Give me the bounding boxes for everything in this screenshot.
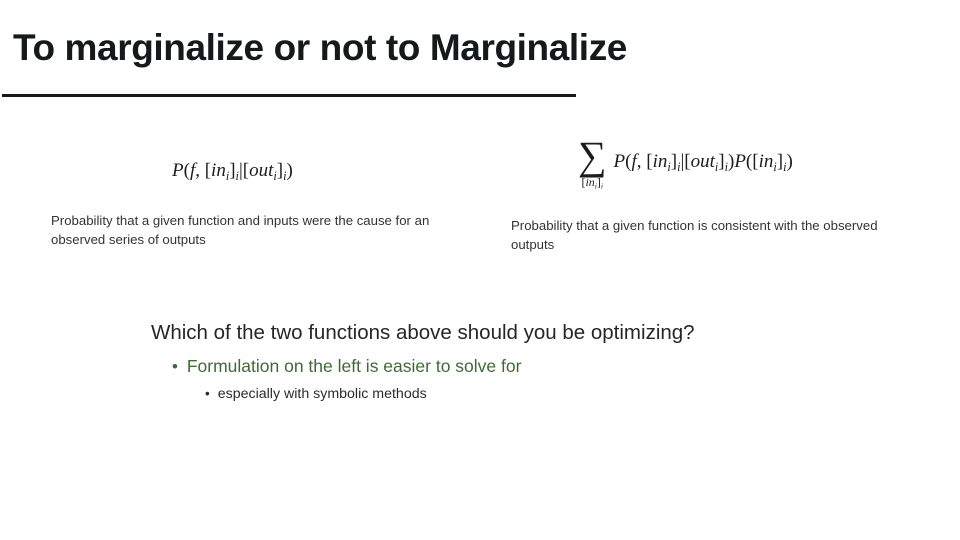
page-title: To marginalize or not to Marginalize bbox=[13, 28, 627, 69]
formula-right-out: out bbox=[691, 151, 715, 172]
summation-operator: ∑ [ini]i bbox=[578, 138, 607, 190]
formula-right-prior-P: P bbox=[734, 151, 746, 172]
bullet-secondary-label: especially with symbolic methods bbox=[218, 386, 427, 402]
formula-right-P: P bbox=[614, 151, 626, 172]
title-divider bbox=[2, 94, 576, 97]
formula-right-prior-in: in bbox=[759, 151, 774, 172]
sub-bullet-dot-icon: • bbox=[205, 387, 210, 400]
sum-idx-base: in bbox=[585, 175, 594, 189]
formula-right-comma: , bbox=[637, 151, 647, 172]
joint-posterior-formula: P(f, [ini]i|[outi]i) bbox=[172, 160, 293, 184]
left-formula-caption: Probability that a given function and in… bbox=[51, 211, 451, 249]
summation-index: [ini]i bbox=[581, 176, 603, 190]
formula-left-P: P bbox=[172, 160, 184, 181]
question-text: Which of the two functions above should … bbox=[151, 321, 695, 345]
formula-left-in: in bbox=[211, 160, 226, 181]
formula-right-in: in bbox=[653, 151, 668, 172]
bullet-dot-icon: • bbox=[172, 359, 178, 376]
right-formula-caption: Probability that a given function is con… bbox=[511, 216, 911, 254]
formula-left-out: out bbox=[249, 160, 273, 181]
bullet-item-secondary: • especially with symbolic methods bbox=[205, 386, 427, 402]
formula-left-close-paren: ) bbox=[286, 160, 292, 181]
bullet-item-primary: • Formulation on the left is easier to s… bbox=[172, 356, 521, 377]
formula-right-prior-close-paren: ) bbox=[786, 151, 792, 172]
marginalized-formula: ∑ [ini]i P(f, [ini]i|[outi]i)P([ini]i) bbox=[578, 138, 793, 190]
sum-idx-outer-subscript: i bbox=[601, 181, 603, 190]
bullet-primary-label: Formulation on the left is easier to sol… bbox=[187, 356, 522, 377]
sigma-icon: ∑ bbox=[578, 138, 607, 175]
formula-left-comma: , bbox=[195, 160, 205, 181]
slide-canvas: To marginalize or not to Marginalize P(f… bbox=[0, 0, 960, 540]
marginalized-formula-body: P(f, [ini]i|[outi]i)P([ini]i) bbox=[614, 138, 793, 175]
